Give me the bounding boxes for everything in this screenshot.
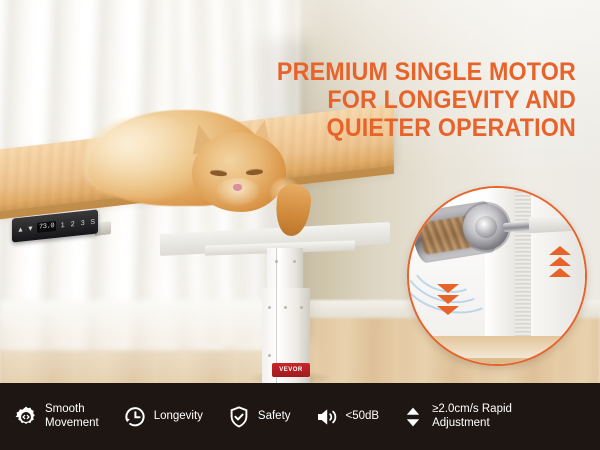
screw-icon: [268, 306, 271, 309]
up-down-arrows-icon: [401, 405, 425, 429]
screw-icon: [300, 306, 303, 309]
feature-smooth-movement: Smooth Movement: [14, 403, 99, 430]
product-ad-image: VEVOR ▲ ▼ 73.0 1 2 3 S PREMIUM SINGLE M: [0, 0, 600, 450]
feature-label: ≥2.0cm/s Rapid Adjustment: [432, 403, 512, 430]
control-preset-1-button[interactable]: 1: [59, 221, 66, 229]
shield-check-icon: [227, 405, 251, 429]
control-save-button[interactable]: S: [89, 218, 96, 226]
control-panel-keys[interactable]: ▲ ▼ 73.0 1 2 3 S: [12, 217, 96, 236]
cat-paw-hanging: [273, 182, 312, 237]
speaker-sound-icon: [315, 405, 339, 429]
motor-closeup-inset: [407, 186, 587, 366]
feature-bar: Smooth Movement Longevity Safety: [0, 383, 600, 450]
control-height-display: 73.0: [37, 221, 56, 233]
chevron-down-icon: [437, 306, 459, 315]
chevron-down-icon-group: [437, 284, 459, 315]
vevor-logo-badge: VEVOR: [272, 363, 310, 377]
motor-mount-bracket: [529, 215, 576, 233]
motor-gear-hub: [475, 216, 497, 238]
headline-text: PREMIUM SINGLE MOTOR FOR LONGEVITY AND Q…: [246, 58, 576, 142]
headline-line-1: PREMIUM SINGLE MOTOR: [269, 58, 576, 86]
control-preset-3-button[interactable]: 3: [79, 219, 86, 227]
feature-rapid-adjustment: ≥2.0cm/s Rapid Adjustment: [401, 403, 512, 430]
control-down-button[interactable]: ▼: [27, 225, 34, 233]
inset-floor-highlight: [409, 336, 585, 358]
cat-nose: [233, 184, 242, 191]
chevron-down-icon: [437, 295, 459, 304]
screw-icon: [284, 306, 287, 309]
chevron-up-icon: [549, 257, 571, 266]
headline-line-3: QUIETER OPERATION: [269, 114, 576, 142]
gear-arrows-icon: [14, 405, 38, 429]
screw-icon: [293, 260, 296, 263]
screw-icon: [268, 354, 271, 357]
clock-refresh-icon: [123, 405, 147, 429]
chevron-down-icon: [437, 284, 459, 293]
headline-line-2: FOR LONGEVITY AND: [269, 86, 576, 114]
feature-label: Smooth Movement: [45, 403, 99, 430]
feature-longevity: Longevity: [123, 405, 203, 429]
chevron-up-icon-group: [549, 246, 571, 277]
chevron-up-icon: [549, 246, 571, 255]
cat-muzzle: [216, 178, 260, 206]
control-preset-2-button[interactable]: 2: [69, 220, 76, 228]
feature-noise-level: <50dB: [315, 405, 380, 429]
feature-label: <50dB: [346, 410, 380, 423]
control-up-button[interactable]: ▲: [17, 226, 24, 234]
feature-safety: Safety: [227, 405, 291, 429]
feature-label: Safety: [258, 410, 291, 423]
chevron-up-icon: [549, 268, 571, 277]
inset-floor: [409, 338, 585, 364]
feature-label: Longevity: [154, 410, 203, 423]
